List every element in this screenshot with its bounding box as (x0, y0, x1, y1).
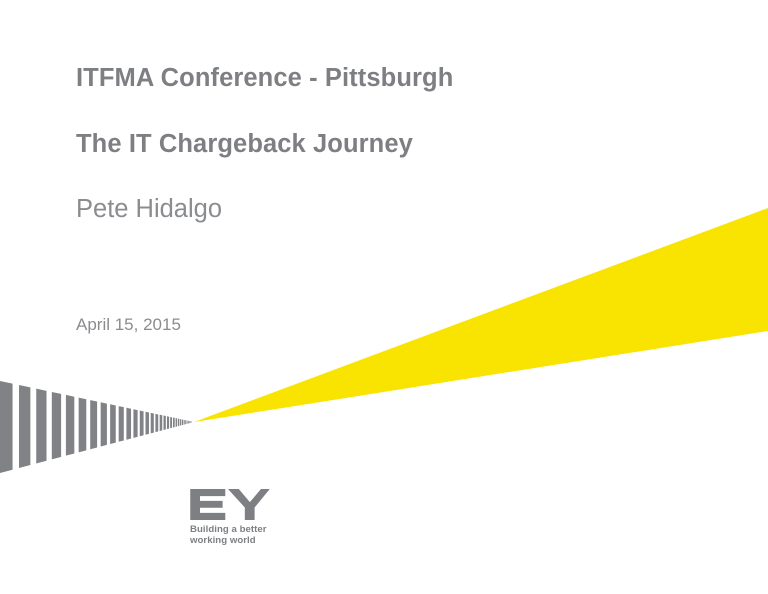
ey-tagline-line-1: Building a better (190, 524, 340, 535)
gray-stripe (126, 408, 131, 440)
gray-stripe (155, 414, 158, 432)
title-text-block: ITFMA Conference - Pittsburgh The IT Cha… (76, 66, 696, 223)
gray-stripe (160, 415, 163, 431)
page-title-line-2: The IT Chargeback Journey (76, 132, 696, 158)
yellow-beam-icon (194, 208, 768, 422)
gray-stripe (189, 421, 190, 423)
gray-stripe (110, 404, 116, 444)
gray-stripe (180, 419, 181, 426)
title-slide: ITFMA Conference - Pittsburgh The IT Cha… (0, 0, 768, 594)
gray-stripes-icon (0, 381, 192, 473)
gray-stripe (188, 421, 189, 424)
gray-stripe (36, 389, 46, 464)
gray-stripe (184, 420, 185, 425)
gray-stripe (187, 420, 188, 423)
gray-stripe (0, 381, 13, 473)
presenter-name: Pete Hidalgo (76, 197, 696, 223)
gray-stripe (101, 402, 107, 446)
event-date: April 15, 2015 (76, 316, 181, 333)
gray-stripe (178, 419, 179, 427)
gray-stripe (79, 398, 87, 453)
gray-stripe (167, 416, 169, 429)
gray-stripe (182, 419, 183, 425)
gray-stripe (119, 406, 124, 442)
gray-stripe (173, 418, 175, 428)
ey-tagline: Building a better working world (190, 524, 340, 546)
gray-stripe (19, 385, 30, 468)
gray-stripe (191, 421, 192, 422)
gray-stripe (52, 392, 61, 459)
gray-stripe (140, 411, 144, 437)
ey-logo: Building a better working world (190, 489, 340, 546)
gray-stripe (170, 417, 172, 428)
gray-stripe (176, 418, 178, 427)
gray-stripe (185, 420, 186, 424)
gray-stripe (190, 421, 191, 423)
gray-stripe (151, 413, 154, 434)
ey-tagline-line-2: working world (190, 535, 340, 546)
ey-wordmark-icon (190, 489, 270, 520)
gray-stripe (146, 412, 149, 435)
gray-stripe (90, 400, 97, 449)
gray-stripe (133, 409, 137, 438)
gray-stripe (164, 416, 166, 430)
gray-stripe (66, 395, 74, 456)
page-title-line-1: ITFMA Conference - Pittsburgh (76, 66, 696, 92)
